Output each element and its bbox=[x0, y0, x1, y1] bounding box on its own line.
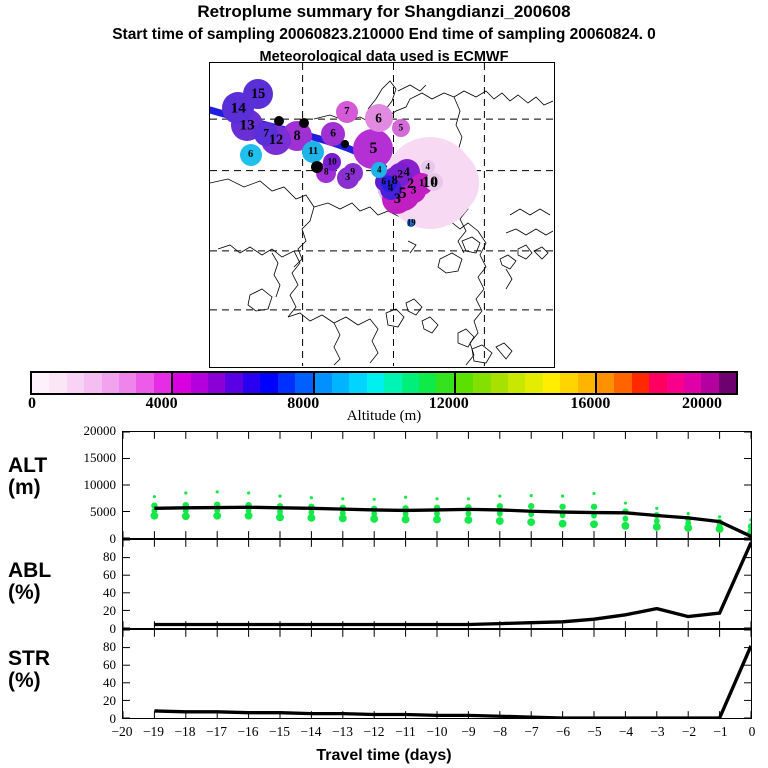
alt-plot bbox=[123, 432, 751, 538]
plume-marker-label: 15 bbox=[251, 87, 265, 101]
x-axis-tick-label: −18 bbox=[174, 724, 195, 740]
plume-marker-label: 4 bbox=[404, 166, 410, 178]
str-label-line2: (%) bbox=[8, 670, 50, 692]
y-axis-tick-label: 40 bbox=[58, 585, 116, 601]
y-axis-tick-label: 5000 bbox=[58, 504, 116, 520]
colorbar-segment bbox=[491, 373, 508, 393]
alt-label-line1: ALT bbox=[8, 455, 47, 477]
colorbar-segment bbox=[367, 373, 384, 393]
colorbar-segment bbox=[278, 373, 295, 393]
plume-marker-label: 6 bbox=[375, 112, 382, 125]
altitude-colorbar bbox=[30, 371, 738, 395]
sampling-time-line: Start time of sampling 20060823.210000 E… bbox=[0, 26, 768, 44]
plume-marker-label: 1 bbox=[419, 179, 424, 189]
plume-marker-label: 5 bbox=[343, 140, 348, 149]
colorbar-segment bbox=[560, 373, 577, 393]
y-axis-tick-label: 20 bbox=[58, 693, 116, 709]
y-axis-tick-label: 0 bbox=[58, 621, 116, 637]
alt-mean-line bbox=[154, 507, 751, 536]
x-axis-tick-label: −11 bbox=[395, 724, 416, 740]
str-label-line1: STR bbox=[8, 648, 50, 670]
plume-markers: 1910104235384612445565679384101186127136… bbox=[210, 63, 554, 367]
plume-marker-label: 7 bbox=[344, 106, 349, 116]
y-axis-tick-label: 80 bbox=[58, 639, 116, 655]
colorbar-segment bbox=[349, 373, 366, 393]
colorbar-segment bbox=[119, 373, 136, 393]
alt-row-label: ALT (m) bbox=[8, 455, 47, 499]
colorbar-segment bbox=[315, 373, 332, 393]
x-axis-tick-label: −4 bbox=[619, 724, 633, 740]
plume-marker-label: 4 bbox=[426, 163, 431, 172]
plume-marker-label: 2 bbox=[397, 169, 403, 180]
plume-marker-label: 6 bbox=[277, 117, 282, 126]
str-plot bbox=[123, 630, 751, 718]
x-axis-tick-label: −3 bbox=[650, 724, 664, 740]
x-axis-tick-label: −9 bbox=[461, 724, 475, 740]
y-axis-tick-label: 20 bbox=[58, 603, 116, 619]
x-axis-tick-label: −5 bbox=[587, 724, 601, 740]
y-axis-tick-label: 0 bbox=[58, 711, 116, 727]
alt-label-line2: (m) bbox=[8, 477, 47, 499]
colorbar-segment bbox=[32, 373, 49, 393]
x-axis-tick-label: −10 bbox=[426, 724, 447, 740]
colorbar-segment bbox=[84, 373, 101, 393]
colorbar-segment bbox=[456, 373, 473, 393]
abl-series-line bbox=[154, 543, 751, 625]
str-tick-marks bbox=[123, 630, 751, 718]
abl-panel bbox=[122, 539, 752, 629]
plume-marker-label: 19 bbox=[407, 218, 416, 227]
abl-row-label: ABL (%) bbox=[8, 560, 51, 604]
x-axis-tick-label: −17 bbox=[206, 724, 227, 740]
colorbar-segment bbox=[260, 373, 277, 393]
plume-marker-label: 3 bbox=[394, 191, 401, 205]
x-axis-tick-label: −20 bbox=[111, 724, 132, 740]
colorbar-segment bbox=[719, 373, 736, 393]
x-axis-tick-label: −2 bbox=[682, 724, 696, 740]
page-title: Retroplume summary for Shangdianzi_20060… bbox=[0, 2, 768, 22]
abl-tick-marks bbox=[123, 540, 751, 628]
y-axis-tick-label: 60 bbox=[58, 567, 116, 583]
plume-marker-label: 5 bbox=[399, 124, 404, 133]
plume-marker-label: 3 bbox=[411, 185, 417, 196]
colorbar-segment bbox=[295, 373, 314, 393]
x-axis-title: Travel time (days) bbox=[0, 747, 768, 765]
plume-marker-label: 6 bbox=[248, 150, 253, 160]
colorbar-segment bbox=[684, 373, 701, 393]
colorbar-segment bbox=[136, 373, 153, 393]
colorbar-segment bbox=[436, 373, 455, 393]
x-axis-tick-label: −14 bbox=[300, 724, 321, 740]
x-axis-tick-label: −8 bbox=[493, 724, 507, 740]
abl-label-line1: ABL bbox=[8, 560, 51, 582]
colorbar-segment bbox=[525, 373, 542, 393]
x-axis-tick-label: 0 bbox=[749, 724, 756, 740]
alt-panel bbox=[122, 431, 752, 539]
abl-plot bbox=[123, 540, 751, 628]
y-axis-tick-label: 40 bbox=[58, 675, 116, 691]
colorbar-segment bbox=[614, 373, 631, 393]
str-series-line bbox=[154, 646, 751, 718]
y-axis-tick-label: 60 bbox=[58, 657, 116, 673]
x-axis-tick-label: −13 bbox=[332, 724, 353, 740]
plume-marker-label: 9 bbox=[350, 169, 355, 179]
colorbar-segment bbox=[543, 373, 560, 393]
plume-marker-label: 6 bbox=[330, 128, 336, 139]
colorbar-segment bbox=[419, 373, 436, 393]
plume-marker-label: 4 bbox=[377, 166, 382, 175]
plume-marker-label: 7 bbox=[263, 128, 269, 139]
colorbar-segment bbox=[154, 373, 173, 393]
str-row-label: STR (%) bbox=[8, 648, 50, 692]
plume-marker-label: 10 bbox=[328, 157, 337, 166]
colorbar-segment bbox=[102, 373, 119, 393]
colorbar-segment bbox=[67, 373, 84, 393]
plume-marker-label: 8 bbox=[324, 168, 329, 178]
x-axis-tick-label: −16 bbox=[237, 724, 258, 740]
plume-marker-label: 6 bbox=[381, 177, 386, 186]
plume-marker-label: 5 bbox=[369, 141, 377, 157]
colorbar-segment bbox=[208, 373, 225, 393]
plume-marker-label: 6 bbox=[301, 118, 306, 127]
colorbar-segment bbox=[508, 373, 525, 393]
plume-marker-label: 3 bbox=[345, 173, 350, 183]
x-axis-tick-label: −1 bbox=[713, 724, 727, 740]
y-axis-tick-label: 15000 bbox=[58, 450, 116, 466]
colorbar-segment bbox=[649, 373, 666, 393]
colorbar-segment bbox=[243, 373, 260, 393]
plume-marker-label: 12 bbox=[269, 132, 283, 146]
colorbar-segment bbox=[225, 373, 242, 393]
plume-marker-label: 13 bbox=[240, 118, 255, 133]
colorbar-segment bbox=[173, 373, 190, 393]
alt-scatter-points bbox=[150, 490, 751, 537]
colorbar-segment bbox=[701, 373, 718, 393]
plume-marker-label: 4 bbox=[315, 163, 320, 172]
abl-label-line2: (%) bbox=[8, 582, 51, 604]
plume-marker-label: 8 bbox=[293, 129, 300, 143]
colorbar-segment bbox=[332, 373, 349, 393]
plume-marker-label: 1 bbox=[387, 179, 392, 188]
colorbar-segment bbox=[667, 373, 684, 393]
y-axis-tick-label: 10000 bbox=[58, 477, 116, 493]
plume-marker-label: 14 bbox=[231, 100, 246, 115]
y-axis-tick-label: 80 bbox=[58, 549, 116, 565]
str-panel bbox=[122, 629, 752, 719]
colorbar-segment bbox=[402, 373, 419, 393]
retroplume-map: 1910104235384612445565679384101186127136… bbox=[209, 62, 555, 368]
x-axis-tick-label: −15 bbox=[269, 724, 290, 740]
colorbar-segment bbox=[578, 373, 597, 393]
y-axis-tick-label: 0 bbox=[58, 531, 116, 547]
y-axis-tick-label: 20000 bbox=[58, 423, 116, 439]
colorbar-segment bbox=[49, 373, 66, 393]
colorbar-segment bbox=[632, 373, 649, 393]
x-axis-tick-label: −7 bbox=[524, 724, 538, 740]
x-axis-tick-label: −12 bbox=[363, 724, 384, 740]
colorbar-segment bbox=[191, 373, 208, 393]
plume-marker-label: 11 bbox=[308, 147, 318, 157]
colorbar-segment bbox=[597, 373, 614, 393]
x-axis-tick-label: −6 bbox=[556, 724, 570, 740]
plume-marker-label: 0 bbox=[432, 178, 437, 187]
x-axis-tick-label: −19 bbox=[143, 724, 164, 740]
colorbar-segment bbox=[473, 373, 490, 393]
colorbar-segment bbox=[384, 373, 401, 393]
